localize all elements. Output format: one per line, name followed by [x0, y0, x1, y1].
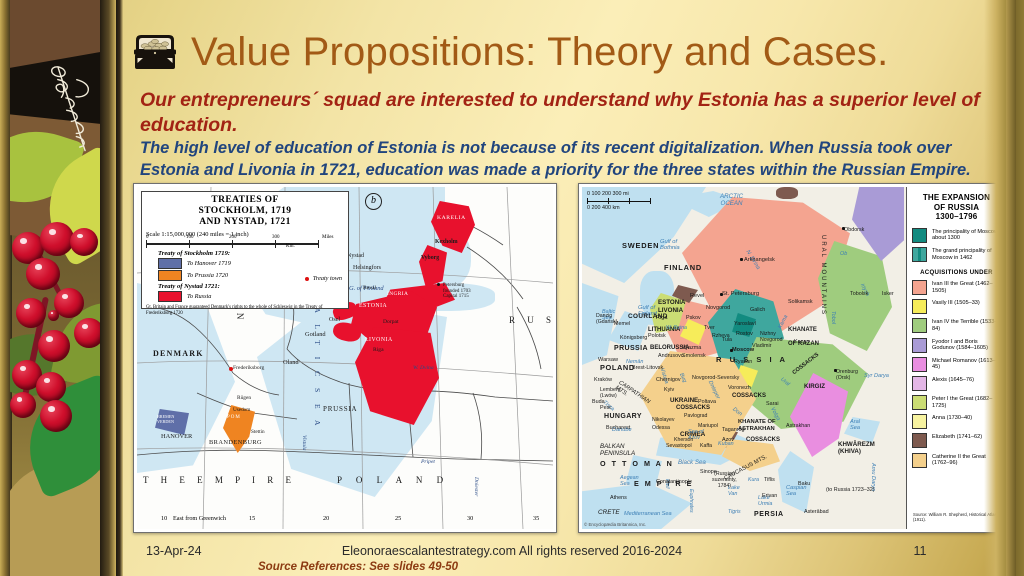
label-kura: Kura — [748, 477, 759, 483]
city-asterabad: Asterābad — [804, 509, 829, 515]
legend-label-anna: Anna (1730–40) — [932, 414, 972, 422]
treaty-town-dot — [229, 367, 233, 371]
map-expansion-canvas: ARCTICOCEAN SWEDEN FINLAND Gulf ofBothni… — [582, 187, 1006, 529]
label-w-dvina: W. Dvina — [413, 365, 434, 371]
city-revel: Revel — [690, 293, 704, 299]
vertical-divider — [116, 0, 123, 576]
city-dot — [730, 349, 733, 352]
legend-title-line2: STOCKHOLM, 1719 — [146, 206, 344, 217]
legend-swatch-ivan-iv — [912, 318, 927, 333]
label-ingria: INGRIA — [387, 291, 408, 297]
label-ural-mountains: URAL MOUNTAINS — [820, 235, 826, 316]
label-ottoman: O T T O M A N — [600, 459, 674, 468]
label-khanate-of-kazan: KHANATE OF KAZAN — [788, 327, 819, 349]
label-bremen-verden: BREMENVERDEN — [157, 415, 174, 424]
zone-elizabeth-arctic — [776, 187, 798, 199]
label-pomerania: POM — [227, 415, 241, 420]
city-sinope: Sinope — [700, 469, 717, 475]
city-vladimir: Vladimir — [752, 343, 771, 349]
label-the-empire: T H E E M P I R E — [143, 475, 296, 485]
label-ob: Ob — [840, 251, 847, 257]
legend-swatch-michael-romanov — [912, 357, 927, 372]
label-cossacks-2: COSSACKS — [732, 393, 766, 399]
city-vyazma: Vyazma — [682, 345, 701, 351]
decorative-artwork-strip — [0, 0, 116, 576]
city-sarai: Sarai — [766, 401, 779, 407]
city-dot — [842, 227, 845, 230]
slide-canvas: Value Propositions: Theory and Cases. Ou… — [0, 0, 1024, 576]
legend-swatch-vasily-iii — [912, 299, 927, 314]
label-arctic-ocean: ARCTICOCEAN — [720, 193, 743, 207]
city-kazan: Kazan — [794, 339, 809, 345]
label-brandenburg: BRANDENBURG — [209, 439, 262, 446]
britannica-copyright: © Encyclopædia Britannica, Inc. — [584, 522, 646, 527]
city-pskov: Pskov — [686, 315, 701, 321]
berry — [16, 298, 46, 328]
legend-swatch-ivan-iii — [912, 280, 927, 295]
legend-swatch-peter-i — [912, 395, 927, 410]
city-kaffa: Kaffa — [700, 443, 712, 449]
label-oland: Oland — [283, 359, 299, 366]
label-crete: CRETE — [598, 509, 620, 516]
berry — [10, 392, 36, 418]
artstrip-right-glow — [100, 0, 116, 576]
city-chernigov: Chernigov — [656, 377, 681, 383]
label-black-sea: Black Sea — [678, 459, 706, 466]
legend-title-line1: TREATIES OF — [146, 195, 344, 206]
label-sweden: SWEDEN — [622, 241, 659, 250]
city-arkhangelsk: Arkhangelsk — [744, 257, 775, 263]
city-ryazan: Ryazan — [734, 359, 752, 365]
city-polotsk: Polotsk — [648, 333, 666, 339]
legend-swatch-moscow-1462 — [912, 247, 927, 262]
city-tver: Tver — [704, 325, 715, 331]
city-constantinople: Constantinople — [656, 479, 692, 485]
map-treaties-stockholm-nystad[interactable]: S W E D E N R U S S I A DENMARK T H E E … — [133, 183, 557, 533]
label-prussia: PRUSSIA — [614, 345, 648, 352]
label-persia: PERSIA — [754, 511, 784, 518]
legend-label-russia: To Russia — [187, 293, 211, 300]
berry — [26, 258, 60, 290]
label-mediterranean-sea: Mediterranean Sea — [624, 511, 672, 517]
label-cossacks-1: COSSACKS — [676, 405, 710, 411]
city-konigsberg: Königsberg — [620, 335, 647, 341]
label-rugen: Rügen — [237, 395, 251, 401]
label-aegean-sea: AegeanSea — [620, 475, 639, 487]
city-astrakhan: Astrakhan — [786, 423, 810, 429]
city-warsaw: Warsaw — [598, 357, 618, 363]
berry — [70, 228, 98, 256]
city-pest: Pest — [600, 405, 611, 411]
map-treaties-legend: TREATIES OF STOCKHOLM, 1719 AND NYSTAD, … — [141, 191, 349, 309]
subtitle-secondary: The high level of education of Estonia i… — [140, 137, 1002, 181]
label-nystad: Nystad — [347, 253, 364, 259]
treaty-town-dot-icon — [305, 277, 309, 281]
city-taganrog: Taganrog — [722, 427, 744, 433]
artist-signature — [26, 20, 106, 200]
label-ukraine: UKRAINE — [670, 397, 698, 404]
label-poland: P O L A N D — [337, 475, 449, 485]
legend-swatch-anna — [912, 414, 927, 429]
label-petersburg: Petersburgfounded 1703Capital 1715 — [443, 283, 471, 300]
legend-swatch-catherine-ii — [912, 453, 927, 468]
axis-label-greenwich: East from Greenwich — [173, 515, 226, 522]
legend-entry-hanover: To Hanover 1719 — [158, 258, 344, 269]
label-vistula: Vistula — [301, 435, 307, 450]
label-frederiksborg: Frederiksborg — [233, 365, 264, 371]
city-rostov: Rostov — [736, 331, 753, 337]
city-pavlograd: Pavlograd — [684, 413, 707, 419]
map-bottom-axis: 10 East from Greenwich 1520 253035 — [137, 515, 553, 527]
label-reval: Reval — [363, 285, 376, 291]
label-finland: FINLAND — [664, 263, 702, 272]
scale-miles: 0 100 200 300 mi — [587, 191, 673, 197]
legend-label-treaty-town: Treaty town — [313, 275, 342, 282]
berry — [36, 372, 66, 402]
city-dot — [834, 369, 837, 372]
legend-swatch-hanover — [158, 258, 182, 269]
city-baku: Baku — [798, 481, 810, 487]
city-tula: Tula — [722, 337, 732, 343]
label-w-dvina: W. Dvina — [666, 325, 687, 331]
city-nizhny-novgorod: NizhnyNovgorod — [760, 331, 783, 343]
legend-swatch-moscow-1300 — [912, 228, 927, 243]
city-mariupol: Mariupol — [698, 423, 718, 429]
city-dot — [740, 258, 743, 261]
label-syr-darya: Syr Darya — [864, 373, 889, 379]
label-gulf-of-bothnia: Gulf ofBothnia — [660, 239, 680, 252]
slide-title-bar: Value Propositions: Theory and Cases. — [131, 22, 991, 82]
city-nikolayev: Nikolayev — [652, 417, 675, 423]
panel-letter-b: b — [365, 193, 382, 210]
city-poltava: Poltava — [698, 399, 716, 405]
label-usedom: Usedom — [233, 407, 250, 413]
city-azov: Azov — [722, 437, 734, 443]
legend-scale-text: Scale 1:15,000,000 (240 miles = 1 inch) — [146, 231, 344, 238]
legend-swatch-fyodor-godunov — [912, 338, 927, 353]
page-title: Value Propositions: Theory and Cases. — [191, 32, 888, 72]
legend-swatch-russia — [158, 291, 182, 302]
label-hungary: HUNGARY — [604, 413, 642, 420]
city-sevastopol: Sevastopol — [666, 443, 692, 449]
berry-small — [48, 310, 59, 321]
city-moscow: Moscow — [732, 347, 754, 353]
label-cossacks-4: COSSACKS — [746, 437, 780, 443]
label-gotland: Gotland — [305, 331, 326, 338]
right-gold-band — [984, 0, 1024, 576]
legend-label-alexis: Alexis (1645–76) — [932, 376, 974, 384]
legend-note: Gt. Britain and France guaranteed Denmar… — [146, 305, 344, 316]
city-isker: Isker — [882, 291, 894, 297]
scale-bar — [587, 198, 673, 204]
label-tigris: Tigris — [728, 509, 741, 515]
label-livonia: LIVONIA — [365, 337, 393, 343]
subtitle-primary: Our entrepreneurs´ squad are interested … — [140, 88, 1002, 138]
city-lemberg: Lemberg(Lwów) — [600, 387, 620, 399]
berry — [40, 400, 72, 432]
city-novgorod-seversky: Novgorod-Seversky — [692, 375, 739, 381]
label-prussia: PRUSSIA — [323, 405, 357, 413]
city-bucharest: Bucharest — [606, 425, 630, 431]
city-dot — [720, 293, 723, 296]
legend-label-elizabeth: Elizabeth (1741–62) — [932, 433, 982, 441]
scale-km: 0 200 400 km — [587, 205, 673, 211]
legend-treaty-town: Treaty town — [305, 275, 342, 282]
legend-heading-stockholm: Treaty of Stockholm 1719: — [158, 250, 344, 257]
city-andrusovo: Andrusovo — [658, 353, 684, 359]
label-estonia: ESTONIA — [658, 299, 685, 306]
label-denmark: DENMARK — [153, 349, 204, 358]
legend-swatch-elizabeth — [912, 433, 927, 448]
label-dniester: Dniester — [473, 477, 479, 496]
label-pripet: Pripet — [421, 459, 435, 465]
legend-entry-russia: To Russia — [158, 291, 344, 302]
label-dorpat: Dorpat — [383, 319, 399, 325]
legend-label-hanover: To Hanover 1719 — [187, 260, 231, 267]
city-st-petersburg: St. Petersburg — [722, 291, 759, 297]
city-solikamsk: Solikamsk — [788, 299, 813, 305]
legend-swatch-prussia — [158, 270, 182, 281]
label-tobol: Tobol — [830, 311, 836, 324]
city-brest-litovsk: Brest-Litovsk — [632, 365, 663, 371]
city-odessa: Odessa — [652, 425, 670, 431]
map-expansion-of-russia[interactable]: ARCTICOCEAN SWEDEN FINLAND Gulf ofBothni… — [578, 183, 1010, 533]
right-band-sliver — [1006, 0, 1016, 576]
label-to-russia-1723: (to Russia 1723–32) — [826, 487, 875, 493]
footer-page-number: 11 — [900, 544, 940, 558]
city-smolensk: Smolensk — [682, 353, 706, 359]
city-yaroslavl: Yaroslavl — [734, 321, 756, 327]
footer-source-references: Source References: See slides 49-50 — [258, 561, 458, 573]
label-kexholm: Kexholm — [435, 239, 458, 245]
treasure-chest-icon — [131, 32, 179, 72]
legend-scale-bar: 0100 200300 MilesKm. — [146, 239, 344, 248]
berry — [40, 222, 74, 256]
city-erivan: Erivan — [762, 493, 777, 499]
city-voronezh: Voronezh — [728, 385, 751, 391]
legend-label-vasily-iii: Vasily III (1505–33) — [932, 299, 980, 307]
legend-title-line3: AND NYSTAD, 1721 — [146, 217, 344, 228]
map-expansion-scale: 0 100 200 300 mi 0 200 400 km — [587, 191, 673, 211]
footer-copyright: Eleonoraescalantestrategy.com All rights… — [0, 544, 1024, 558]
label-vyborg: Vyborg — [421, 255, 439, 261]
label-karelia: KARELIA — [437, 215, 466, 221]
city-krakow: Kraków — [594, 377, 612, 383]
city-kyiv: Kyiv — [664, 387, 674, 393]
label-euphrates: Euphrates — [688, 489, 694, 513]
city-obdorsk: Obdorsk — [844, 227, 864, 233]
city-orenburg: Orenburg(Orsk) — [836, 369, 858, 381]
city-novgorod: Novgorod — [706, 305, 730, 311]
city-galich: Galich — [750, 307, 765, 313]
label-osel: Osel — [329, 317, 340, 323]
legend-swatch-alexis — [912, 376, 927, 391]
city-tobolsk: Tobolsk — [850, 291, 868, 297]
berry — [38, 330, 70, 362]
label-khwarezm: KHWĀREZM(KHIVA) — [838, 441, 875, 455]
city-tiflis: Tiflis — [764, 477, 775, 483]
map-treaties-canvas: S W E D E N R U S S I A DENMARK T H E E … — [137, 187, 553, 529]
city-athens: Athens — [610, 495, 627, 501]
legend-label-prussia: To Prussia 1720 — [187, 272, 228, 279]
label-estonia: ESTONIA — [359, 303, 387, 309]
label-riga: Riga — [373, 347, 384, 353]
city-riga: Riga — [656, 315, 668, 321]
city-danzig: Danzig(Gdańsk) — [596, 313, 617, 325]
label-stettin: Stettin — [251, 429, 265, 435]
label-hanover: HANOVER — [161, 433, 192, 440]
label-kirgiz: KIRGIZ — [804, 383, 825, 390]
label-aral-sea: AralSea — [850, 419, 860, 432]
label-balkan-peninsula: BALKANPENINSULA — [600, 443, 635, 457]
legend-heading-nystad: Treaty of Nystad 1721: — [158, 283, 344, 290]
label-russia: R U S S I A — [509, 315, 553, 325]
label-helsingfors: Helsingfors — [353, 265, 381, 271]
berries-painting — [10, 0, 106, 576]
city-dot — [437, 283, 440, 286]
